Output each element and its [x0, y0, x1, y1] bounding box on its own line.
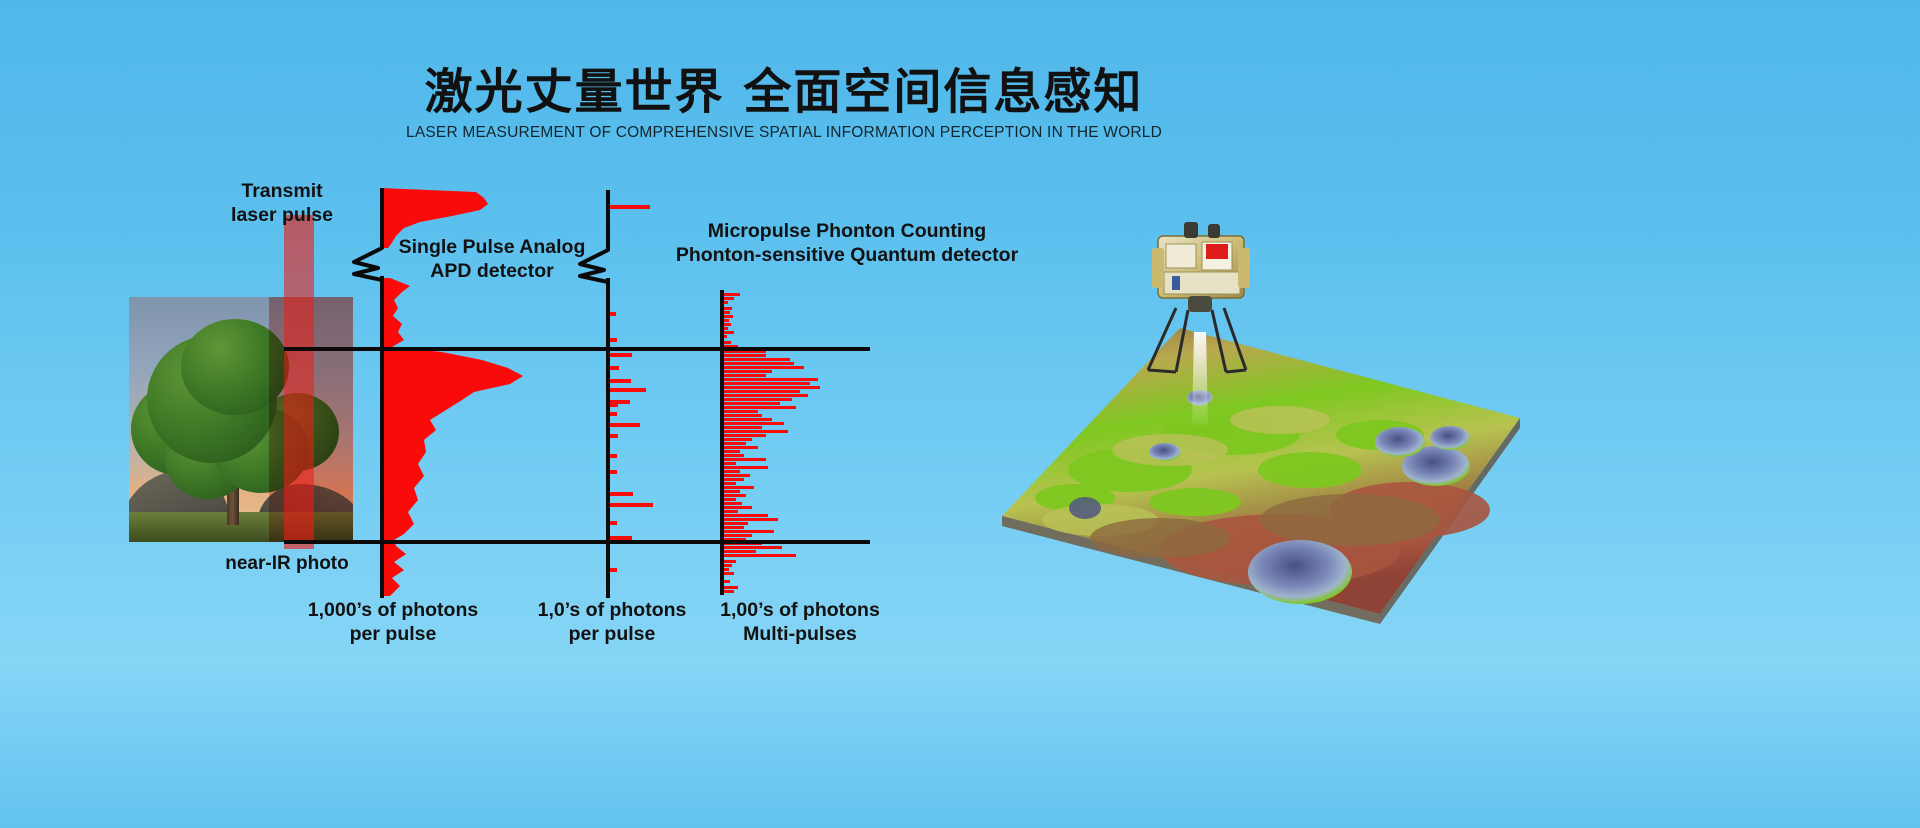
analog-waveform-return [380, 278, 523, 596]
histogram-bar [722, 526, 744, 529]
histogram-bar [608, 353, 632, 357]
lunar-lander-3d-terrain [980, 220, 1540, 640]
crater [1149, 443, 1181, 461]
histogram-bar [722, 466, 768, 469]
near-IR-tree-photo [129, 297, 353, 542]
histogram-bar [608, 503, 653, 507]
reference-line-canopy-top [284, 347, 870, 351]
histogram-bar [722, 430, 788, 433]
histogram-bar [722, 486, 754, 489]
histogram-bar [722, 426, 762, 429]
axis-break-zigzag-lowcount [578, 242, 642, 284]
histogram-bar [722, 366, 804, 369]
histogram-bar [722, 506, 752, 509]
histogram-bar [722, 442, 746, 445]
histogram-bar [722, 450, 740, 453]
chart-micropulse-photon-counting [720, 180, 920, 610]
histogram-bar [722, 390, 800, 393]
histogram-bar [722, 362, 794, 365]
histogram-bar [722, 462, 736, 465]
histogram-bar [722, 374, 766, 377]
crater [1069, 497, 1101, 519]
histogram-bar [722, 382, 810, 385]
histogram-bar [722, 586, 738, 589]
histogram-bar [722, 410, 758, 413]
histogram-bar [722, 394, 808, 397]
reference-line-ground [284, 540, 870, 544]
histogram-bar [722, 354, 766, 357]
axis-line-lowcount-upper [606, 190, 610, 250]
axis-line-analog-lower [380, 276, 384, 598]
poster-canvas: 激光丈量世界 全面空间信息感知 LASER MEASUREMENT OF COM… [0, 0, 1920, 828]
histogram-bar [722, 560, 736, 563]
histogram-bar [722, 434, 766, 437]
histogram-bar [722, 522, 748, 525]
histogram-bar [722, 550, 756, 553]
histogram-bar [722, 514, 768, 517]
histogram-bar [608, 205, 650, 209]
terrain-surface [1002, 328, 1520, 624]
analog-waveform-transmit-pulse [380, 188, 488, 248]
histogram-bar [722, 470, 740, 473]
histogram-bar [722, 482, 736, 485]
page-title: 激光丈量世界 全面空间信息感知 [0, 52, 1568, 122]
histogram-bar [722, 454, 744, 457]
histogram-bar [722, 293, 740, 296]
histogram-bar [722, 446, 758, 449]
histogram-bar [608, 423, 640, 427]
histogram-bar [722, 438, 752, 441]
axis-line-analog-upper [380, 188, 384, 248]
histogram-bar [722, 386, 820, 389]
histogram-bar [722, 406, 796, 409]
histogram-bar [722, 370, 772, 373]
histogram-bar [722, 402, 780, 405]
axis-line-micropulse [720, 290, 724, 595]
axis-line-lowcount-lower [606, 278, 610, 598]
axis-break-zigzag-analog [352, 240, 416, 282]
histogram-bar [722, 494, 746, 497]
histogram-bar [722, 502, 742, 505]
histogram-bar [722, 554, 796, 557]
histogram-bar [722, 490, 740, 493]
chinese-flag-icon [1206, 244, 1228, 259]
histogram-bar [608, 492, 633, 496]
histogram-bar [608, 379, 631, 383]
histogram-bar [722, 498, 736, 501]
histogram-bar [608, 388, 646, 392]
histogram-bar [722, 474, 750, 477]
lander-exhaust-plume [1192, 332, 1208, 425]
histogram-bar [722, 414, 762, 417]
histogram-bar [722, 378, 818, 381]
laser-beam-band [284, 215, 314, 549]
histogram-bar [722, 530, 774, 533]
histogram-bar [722, 398, 792, 401]
histogram-bar [722, 546, 782, 549]
histogram-bar [722, 358, 790, 361]
crater [1248, 540, 1352, 604]
histogram-bar [722, 534, 752, 537]
crater [1430, 426, 1470, 450]
crater [1375, 427, 1425, 457]
histogram-bar [722, 518, 778, 521]
page-subtitle: LASER MEASUREMENT OF COMPREHENSIVE SPATI… [0, 124, 1568, 142]
histogram-bar [722, 422, 784, 425]
histogram-bar [722, 510, 738, 513]
lunar-lander [1152, 222, 1250, 312]
histogram-bar [722, 458, 766, 461]
histogram-bar [722, 478, 744, 481]
histogram-bar [722, 418, 772, 421]
